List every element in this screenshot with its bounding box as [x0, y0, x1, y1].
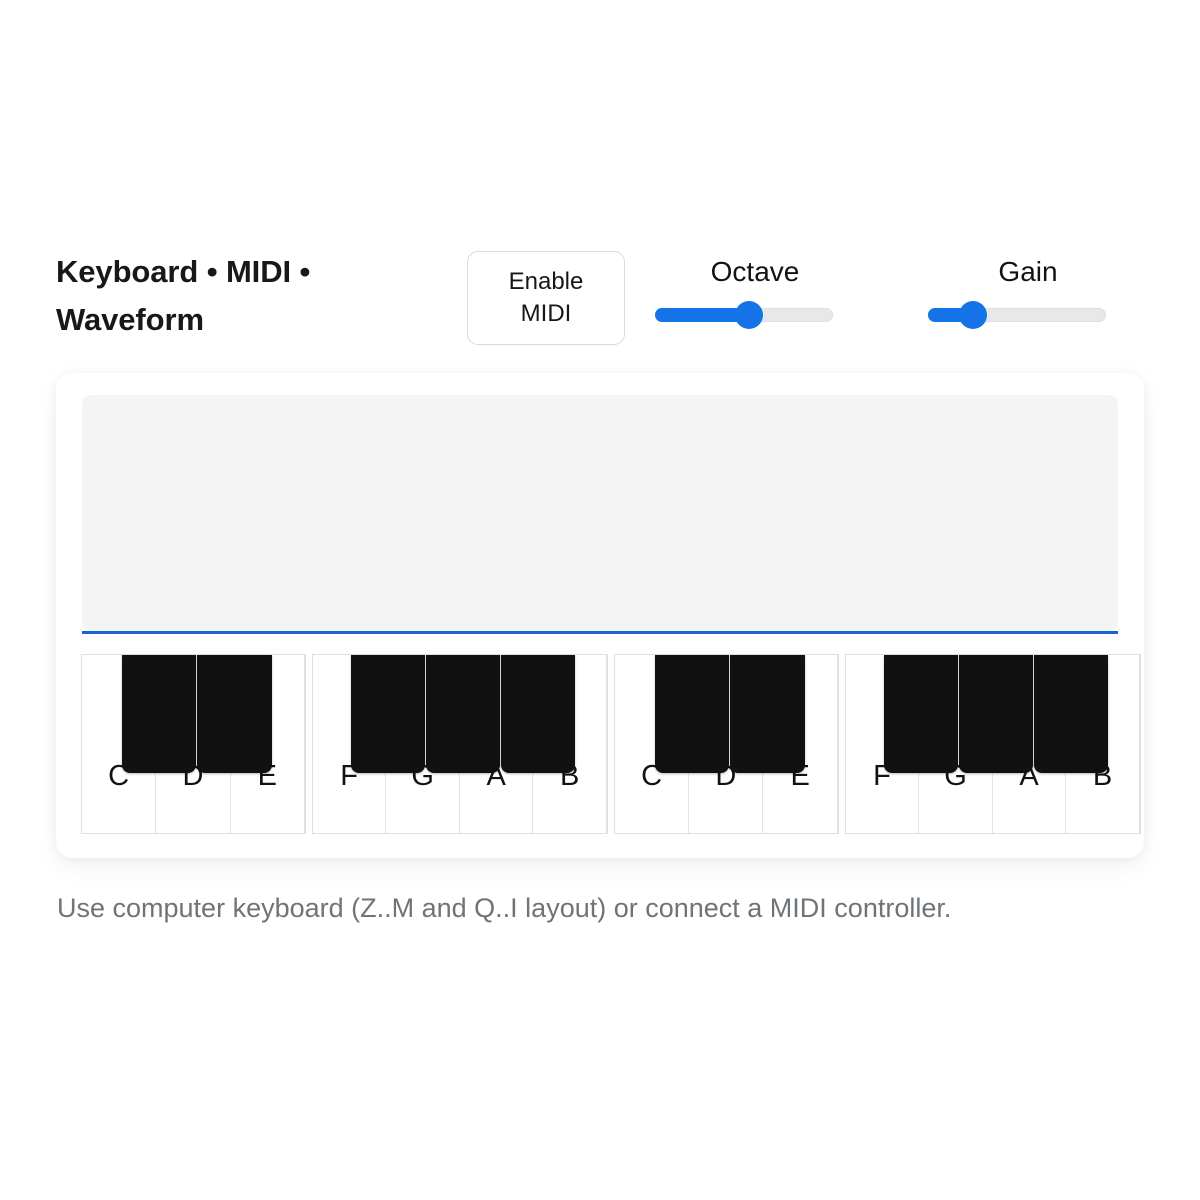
- black-key-csharp[interactable]: [655, 655, 729, 773]
- page-title: Keyboard • MIDI • Waveform: [56, 248, 446, 344]
- octave-slider[interactable]: [655, 308, 833, 322]
- gain-slider[interactable]: [928, 308, 1106, 322]
- gain-label: Gain: [928, 258, 1128, 286]
- black-key-csharp[interactable]: [122, 655, 196, 773]
- black-key-fsharp[interactable]: [884, 655, 958, 773]
- instrument-card: CDEFGABCDEFGAB: [56, 373, 1144, 858]
- key-group: FGAB: [845, 654, 1141, 834]
- black-key-asharp[interactable]: [501, 655, 575, 773]
- black-key-gsharp[interactable]: [959, 655, 1033, 773]
- black-key-gsharp[interactable]: [426, 655, 500, 773]
- enable-midi-button[interactable]: Enable MIDI: [467, 251, 625, 345]
- waveform-signal-line: [82, 631, 1118, 634]
- black-key-fsharp[interactable]: [351, 655, 425, 773]
- octave-slider-thumb[interactable]: [735, 301, 763, 329]
- piano-keyboard[interactable]: CDEFGABCDEFGAB: [81, 654, 1119, 834]
- octave-label: Octave: [655, 258, 855, 286]
- black-key-dsharp[interactable]: [730, 655, 805, 773]
- gain-slider-thumb[interactable]: [959, 301, 987, 329]
- key-group: CDE: [81, 654, 306, 834]
- key-group: CDE: [614, 654, 839, 834]
- black-key-dsharp[interactable]: [197, 655, 272, 773]
- black-key-asharp[interactable]: [1034, 655, 1108, 773]
- keyboard-hint: Use computer keyboard (Z..M and Q..I lay…: [57, 891, 951, 926]
- header-bar: Keyboard • MIDI • Waveform Enable MIDI O…: [56, 248, 1116, 358]
- waveform-display[interactable]: [82, 395, 1118, 633]
- key-group: FGAB: [312, 654, 608, 834]
- synth-page: Keyboard • MIDI • Waveform Enable MIDI O…: [0, 0, 1200, 1200]
